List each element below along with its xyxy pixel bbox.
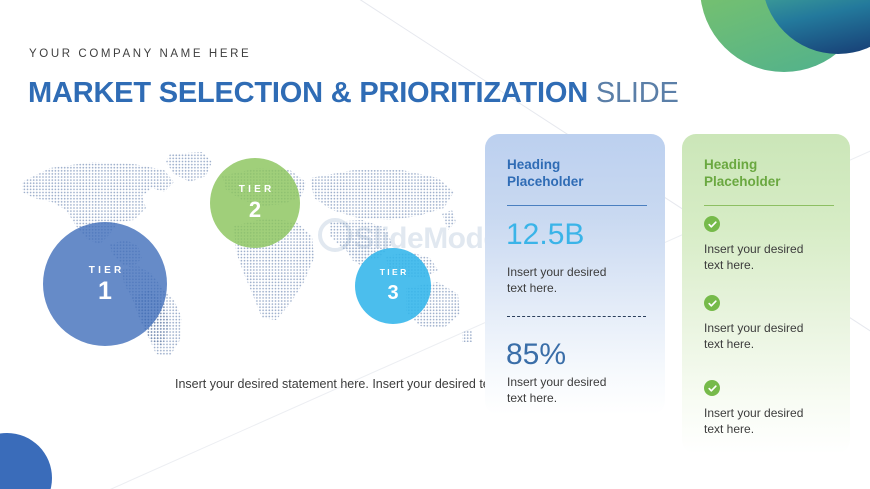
checklist-card-green[interactable]: Heading Placeholder Insert your desired …	[682, 134, 850, 454]
tier-bubble-3[interactable]: TIER 3	[355, 248, 431, 324]
check-circle-icon	[704, 295, 720, 311]
page-title: MARKET SELECTION & PRIORITIZATION SLIDE	[28, 76, 679, 110]
page-title-light: SLIDE	[588, 77, 679, 109]
tier-bubble-1[interactable]: TIER 1	[43, 222, 167, 346]
list-item-text: Insert your desired text here.	[704, 241, 803, 273]
card-green-divider	[704, 205, 834, 206]
list-item-text: Insert your desired text here.	[704, 320, 803, 352]
page-title-bold: MARKET SELECTION & PRIORITIZATION	[28, 77, 588, 109]
stat-text-1: Insert your desired text here.	[507, 264, 606, 296]
check-circle-icon	[704, 216, 720, 232]
list-item: Insert your desired text here.	[704, 216, 803, 273]
stat-text-2: Insert your desired text here.	[507, 374, 606, 406]
list-item-text: Insert your desired text here.	[704, 405, 803, 437]
stat-value-1: 12.5B	[506, 218, 584, 252]
tier-bubble-2-number: 2	[249, 196, 261, 224]
tier-bubble-3-word: TIER	[377, 266, 408, 279]
tier-bubble-3-number: 3	[387, 279, 398, 307]
world-map: TIER 1 TIER 2 TIER 3	[14, 148, 474, 360]
check-circle-icon	[704, 380, 720, 396]
decorative-circle-blue	[0, 433, 52, 489]
list-item: Insert your desired text here.	[704, 380, 803, 437]
map-caption: Insert your desired statement here. Inse…	[175, 376, 531, 393]
tier-bubble-2[interactable]: TIER 2	[210, 158, 300, 248]
card-blue-dashed-divider	[507, 316, 646, 317]
card-blue-divider	[507, 205, 647, 206]
stats-card-blue[interactable]: Heading Placeholder 12.5B Insert your de…	[485, 134, 665, 415]
card-green-heading: Heading Placeholder	[704, 156, 781, 190]
tier-bubble-2-word: TIER	[236, 183, 275, 196]
tier-bubble-1-word: TIER	[86, 264, 125, 277]
card-blue-heading: Heading Placeholder	[507, 156, 584, 190]
tier-bubble-1-number: 1	[98, 277, 112, 305]
company-name-label: YOUR COMPANY NAME HERE	[29, 48, 251, 60]
stat-value-2: 85%	[506, 338, 566, 372]
slide-canvas: YOUR COMPANY NAME HERE MARKET SELECTION …	[0, 0, 870, 489]
list-item: Insert your desired text here.	[704, 295, 803, 352]
